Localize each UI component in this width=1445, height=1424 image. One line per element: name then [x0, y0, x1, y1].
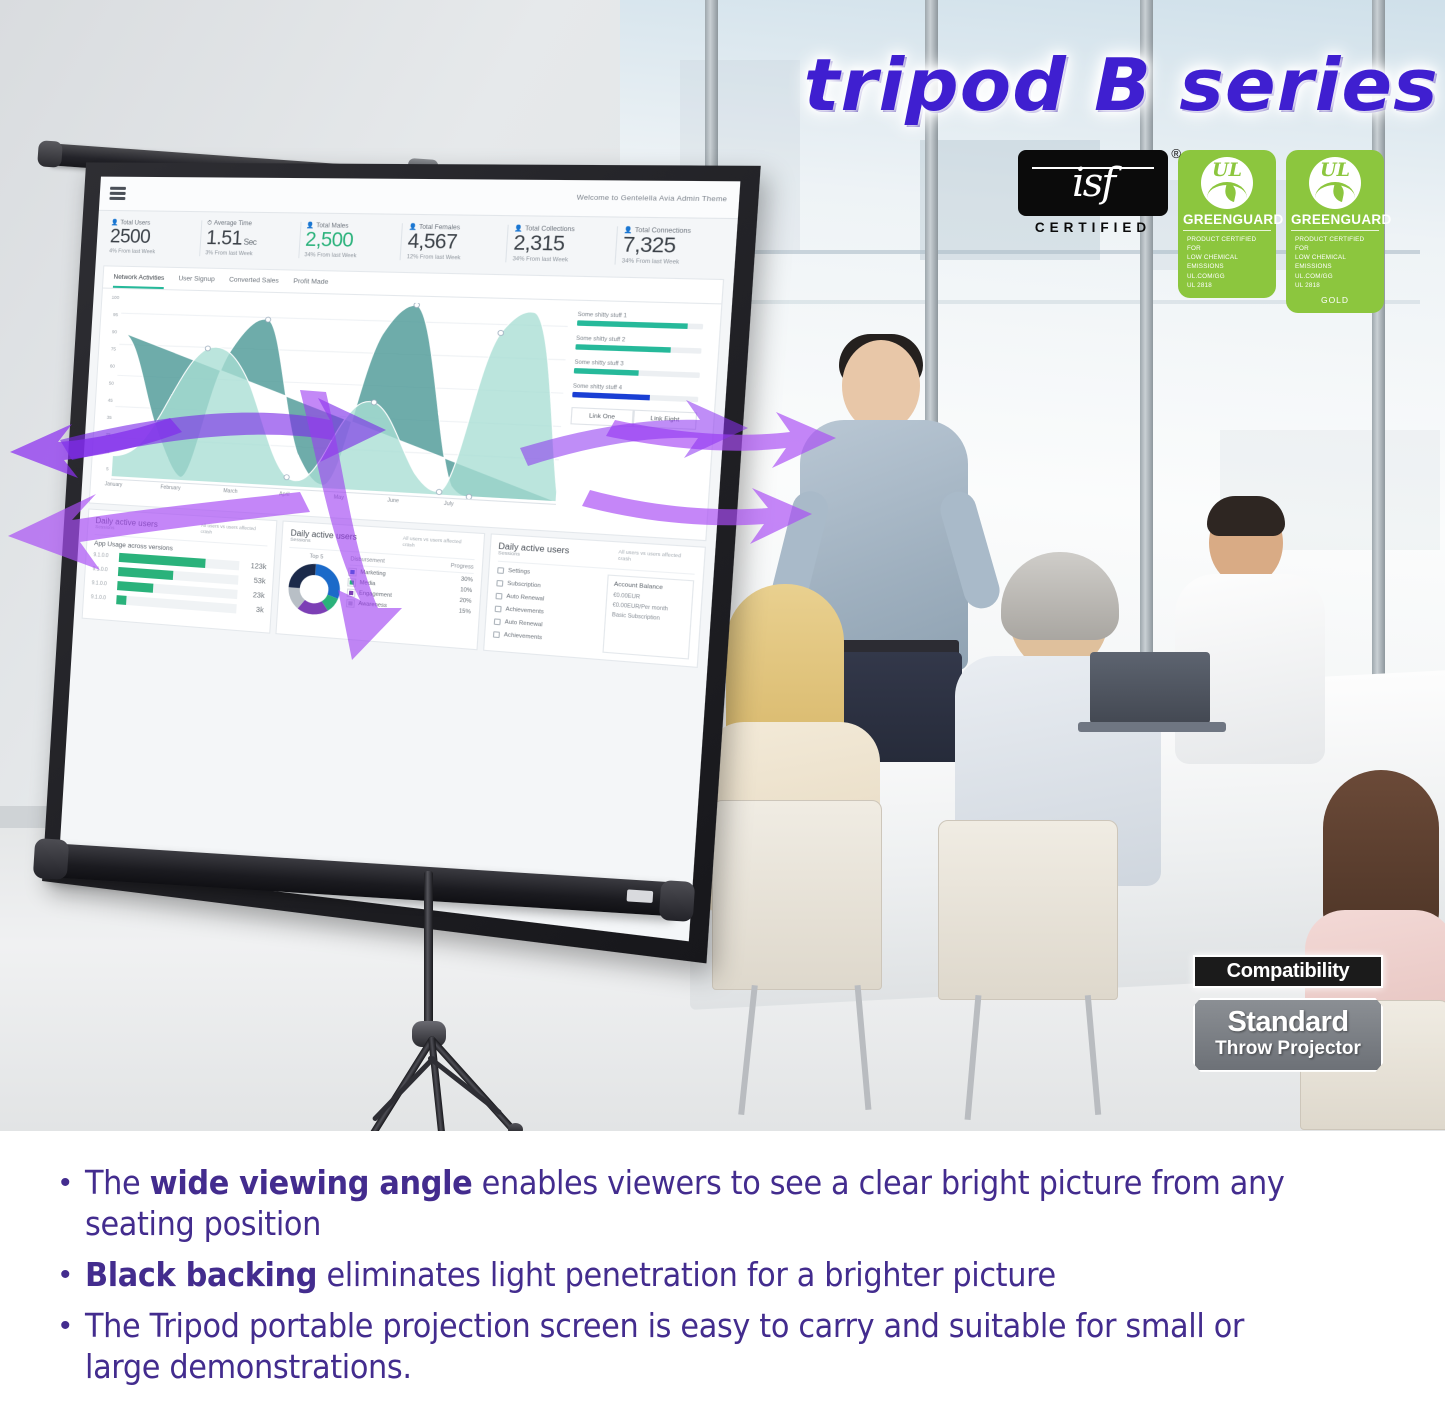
isf-certified-badge: ® isf CERTIFIED: [1018, 150, 1168, 235]
tab-profit-made[interactable]: Profit Made: [293, 278, 329, 293]
panel-note: All users vs users affected crash: [200, 522, 269, 538]
kpi-card: 👤Total Collections 2,315 34% From last W…: [506, 225, 618, 265]
kpi-change: 34% From last Week: [512, 256, 609, 264]
kpi-change: 4% From last Week: [109, 248, 194, 256]
admin-dashboard: Welcome to Gentelella Avia Admin Theme 👤…: [59, 177, 741, 942]
person-seated-right: [1175, 500, 1325, 790]
feature-item-1: • The wide viewing angle enables viewers…: [60, 1163, 1397, 1245]
kpi-change: 12% From last Week: [407, 254, 501, 262]
product-title: tripod B series: [721, 40, 1439, 130]
bullet-dot-icon: •: [60, 1163, 71, 1203]
legend-value: 30%: [451, 576, 474, 584]
progress-track: [575, 344, 701, 354]
panel-daily-active-users-right: Daily active users Sessions All users vs…: [483, 533, 706, 668]
setting-label[interactable]: Settings: [508, 568, 530, 576]
settings-row: Auto Renewal: [495, 593, 600, 607]
compatibility-value-box: Standard Throw Projector: [1193, 998, 1383, 1072]
panel-daily-active-users-mid: Daily active users Sessions All users vs…: [276, 520, 485, 650]
progress-track: [577, 320, 703, 329]
account-balance-box: Account Balance €0.00EUR €0.00EUR/Per mo…: [602, 574, 694, 659]
settings-row: Subscription: [496, 580, 601, 594]
kpi-value: 7,325: [622, 234, 723, 260]
kpi-row: 👤Total Users 2500 4% From last Week ⏱Ave…: [96, 211, 738, 274]
certification-badges: ® isf CERTIFIED UL GREENGUARD PRODUCT CE…: [1018, 150, 1384, 313]
compatibility-callout: Compatibility Standard Throw Projector: [1193, 955, 1383, 1072]
link-eight-button[interactable]: Link Eight: [633, 409, 698, 429]
area-chart: 100 95 90 75 60 50 45 35 25 15: [94, 295, 574, 529]
kpi-value: 2,500: [305, 229, 397, 253]
tripod-stand: [338, 871, 638, 1131]
panel-note: All users vs users affected crash: [402, 535, 475, 552]
bar-endcap-left: [33, 838, 69, 880]
greenguard-level: GOLD: [1291, 295, 1379, 305]
hamburger-icon[interactable]: [109, 184, 126, 202]
greenguard-badge: UL GREENGUARD PRODUCT CERTIFIED FOR LOW …: [1178, 150, 1276, 298]
legend-item: Some shitty stuff 4: [572, 383, 699, 402]
setting-label[interactable]: Achievements: [504, 632, 543, 641]
usage-value: 53k: [243, 577, 266, 586]
isf-mark: isf: [1072, 163, 1114, 203]
laptop: [1090, 652, 1210, 724]
registered-trademark-icon: ®: [1171, 146, 1181, 161]
greenguard-title: GREENGUARD: [1183, 212, 1271, 231]
check-icon: [493, 618, 500, 625]
kpi-card: 👤Total Connections 7,325 34% From last W…: [615, 226, 730, 266]
feature-text-3: The Tripod portable projection screen is…: [85, 1306, 1292, 1388]
tab-user-signup[interactable]: User Signup: [178, 275, 215, 290]
balance-line: Basic Subscription: [612, 612, 685, 624]
legend-value: 10%: [450, 586, 472, 594]
feature-item-3: • The Tripod portable projection screen …: [60, 1306, 1397, 1388]
bullet-dot-icon: •: [60, 1306, 71, 1346]
legend-value: 20%: [449, 597, 471, 605]
tripod-foot: [508, 1123, 523, 1131]
ul-logo-icon: UL: [1201, 157, 1253, 209]
greenguard-title: GREENGUARD: [1291, 212, 1379, 231]
clock-icon: ⏱: [207, 220, 212, 226]
panel-daily-active-users-left: Daily active users Sessions All users vs…: [82, 508, 278, 633]
kpi-change: 34% From last Week: [304, 252, 395, 260]
kpi-card: 👤Total Users 2500 4% From last Week: [104, 219, 201, 256]
kpi-value: 2,315: [513, 232, 611, 257]
chair: [938, 820, 1118, 1000]
welcome-text: Welcome to Gentelella Avia Admin Theme: [576, 194, 727, 203]
screen-frame: Welcome to Gentelella Avia Admin Theme 👤…: [42, 162, 761, 963]
bullet-dot-icon: •: [60, 1255, 71, 1295]
feature-list: • The wide viewing angle enables viewers…: [0, 1131, 1445, 1424]
tripod-brace: [372, 1055, 437, 1122]
compatibility-value-primary: Standard: [1201, 1008, 1375, 1037]
list-icon: [496, 580, 503, 587]
bar-endcap-right: [659, 880, 695, 922]
color-swatch: [349, 579, 356, 586]
tab-converted-sales[interactable]: Converted Sales: [228, 276, 279, 292]
balance-title: Account Balance: [614, 581, 687, 593]
compatibility-label: Compatibility: [1193, 955, 1383, 988]
hero-photo: Welcome to Gentelella Avia Admin Theme 👤…: [0, 0, 1445, 1131]
kpi-value: 1.51 Sec: [205, 228, 294, 252]
chart-legend: Some shitty stuff 1 Some shitty stuff 2 …: [559, 307, 711, 537]
tripod-leg: [351, 1035, 436, 1131]
legend-item: Some shitty stuff 3: [574, 359, 701, 378]
legend-value: 15%: [448, 607, 470, 615]
kpi-change: 34% From last Week: [622, 258, 722, 267]
settings-row: Auto Renewal: [493, 618, 598, 632]
kpi-change: 3% From last Week: [205, 250, 293, 258]
setting-label[interactable]: Subscription: [507, 580, 541, 589]
screen-surface: Welcome to Gentelella Avia Admin Theme 👤…: [59, 177, 741, 942]
usage-value: 123k: [243, 562, 266, 571]
kpi-card: 👤Total Males 2,500 34% From last Week: [298, 222, 403, 260]
color-swatch: [348, 589, 355, 596]
col-progress: Progress: [445, 562, 474, 570]
greenguard-description: PRODUCT CERTIFIED FOR LOW CHEMICAL EMISS…: [1183, 235, 1271, 290]
kpi-card: ⏱Average Time 1.51 Sec 3% From last Week: [199, 220, 300, 258]
legend-name: Awareness: [358, 601, 449, 614]
projection-screen: Welcome to Gentelella Avia Admin Theme 👤…: [38, 143, 698, 933]
color-swatch: [349, 569, 356, 576]
rod-cap-left: [37, 140, 63, 168]
donut-chart: [287, 561, 343, 617]
usage-track: [116, 595, 237, 613]
usage-version: 9.1.0.0: [91, 595, 113, 603]
check-icon: [495, 593, 502, 600]
legend-item: Some shitty stuff 1: [577, 311, 704, 329]
usage-value: 3k: [241, 605, 264, 614]
usage-value: 23k: [242, 591, 265, 600]
greenguard-description: PRODUCT CERTIFIED FOR LOW CHEMICAL EMISS…: [1291, 235, 1379, 290]
usage-version: 9.1.0.0: [93, 552, 115, 560]
usage-version: 9.1.0.0: [91, 581, 113, 589]
panel-note: All users vs users affected crash: [618, 549, 696, 567]
check-icon: [493, 631, 500, 638]
kpi-card: 👤Total Females 4,567 12% From last Week: [400, 223, 508, 262]
ul-logo-icon: UL: [1309, 157, 1361, 209]
legend-item: Some shitty stuff 2: [575, 335, 702, 353]
compatibility-value-secondary: Throw Projector: [1201, 1039, 1375, 1060]
tab-network-activities[interactable]: Network Activities: [113, 274, 165, 289]
isf-caption: CERTIFIED: [1018, 220, 1168, 235]
color-swatch: [347, 600, 354, 607]
chair: [712, 800, 882, 990]
kpi-value: 2500: [109, 226, 195, 250]
settings-row: Achievements: [493, 631, 598, 646]
link-one-button[interactable]: Link One: [570, 407, 633, 427]
chart-plot-area: [111, 295, 569, 505]
setting-label[interactable]: Auto Renewal: [505, 619, 543, 628]
feature-item-2: • Black backing eliminates light penetra…: [60, 1255, 1397, 1296]
product-title-wrap: tripod B series: [735, 40, 1425, 130]
usage-version: 9.1.0.0: [92, 566, 114, 574]
kpi-value: 4,567: [407, 231, 502, 256]
chart-panel: Network Activities User Signup Converted…: [89, 265, 724, 541]
feature-text-1: The wide viewing angle enables viewers t…: [85, 1163, 1292, 1245]
greenguard-gold-badge: UL GREENGUARD PRODUCT CERTIFIED FOR LOW …: [1286, 150, 1384, 313]
setting-label[interactable]: Achievements: [505, 606, 544, 615]
settings-row: Settings: [497, 567, 602, 581]
tripod-pole: [424, 871, 433, 1041]
col-disbursement: Disbursement: [350, 556, 445, 569]
top5-label: Top 5: [289, 552, 344, 562]
gear-icon: [497, 567, 504, 574]
setting-label[interactable]: Auto Renewal: [506, 593, 544, 602]
check-icon: [494, 605, 501, 612]
settings-row: Achievements: [494, 605, 599, 619]
feature-text-2: Black backing eliminates light penetrati…: [85, 1255, 1056, 1296]
laptop-base: [1078, 722, 1226, 732]
